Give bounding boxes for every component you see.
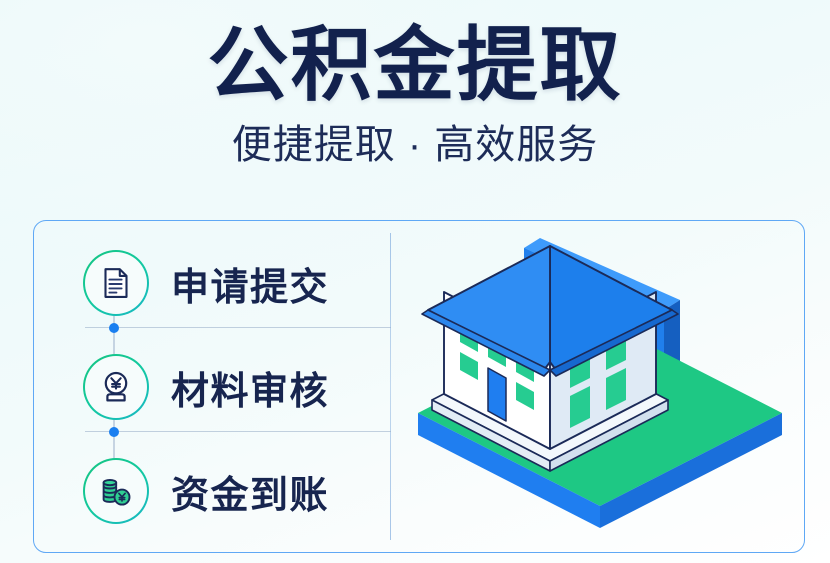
- step-icon-badge: [85, 356, 147, 418]
- yen-review-icon: [98, 369, 134, 405]
- poster-canvas: 公积金提取 便捷提取 · 高效服务: [0, 0, 830, 563]
- step-label: 申请提交: [171, 256, 329, 311]
- step-item-apply-submit[interactable]: 申请提交: [33, 238, 391, 328]
- page-subtitle: 便捷提取 · 高效服务: [0, 107, 830, 165]
- steps-list: 申请提交 材料审核: [33, 220, 391, 553]
- document-icon: [99, 266, 133, 300]
- header: 公积金提取 便捷提取 · 高效服务: [0, 0, 830, 165]
- step-icon-badge: [85, 252, 147, 314]
- illustration-house-and-card: [410, 228, 805, 548]
- step-item-material-audit[interactable]: 材料审核: [33, 342, 391, 432]
- step-item-funds-arrival[interactable]: 资金到账: [33, 446, 391, 536]
- step-label: 材料审核: [171, 360, 329, 415]
- page-title: 公积金提取: [0, 0, 830, 107]
- isometric-illustration: [410, 228, 805, 548]
- step-label: 资金到账: [171, 464, 329, 519]
- coins-yen-icon: [98, 473, 134, 509]
- step-icon-badge: [85, 460, 147, 522]
